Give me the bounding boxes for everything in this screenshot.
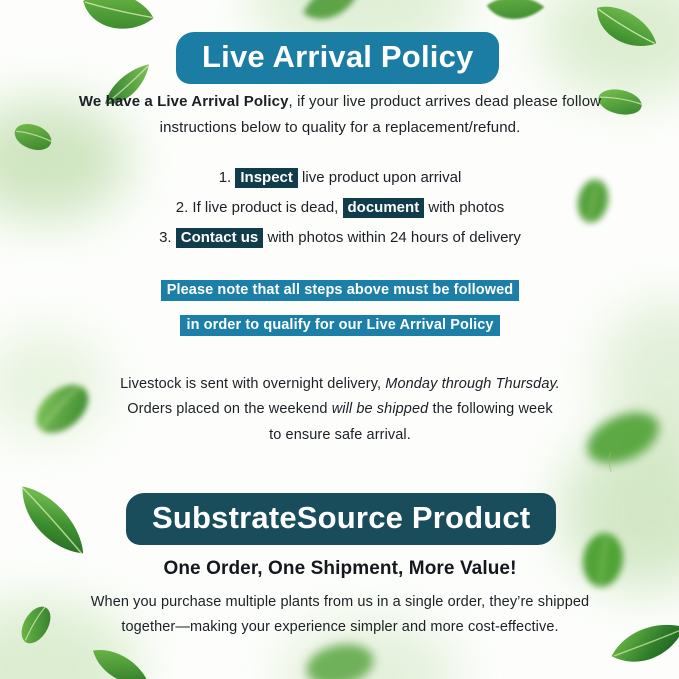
bundled-shipping-paragraph: When you purchase multiple plants from u… (70, 590, 610, 640)
policy-steps-list: 1. Inspect live product upon arrival 2. … (60, 163, 620, 253)
content-layer: Live Arrival Policy We have a Live Arriv… (0, 0, 679, 679)
step-number: 1. (219, 169, 232, 186)
list-item: 3. Contact us with photos within 24 hour… (60, 223, 620, 253)
step-number: 3. (159, 229, 172, 246)
step-after-text: with photos within 24 hours of delivery (263, 229, 521, 246)
value-subheadline: One Order, One Shipment, More Value! (70, 558, 610, 580)
step-highlight-inspect: Inspect (235, 168, 298, 188)
note-line-1: Please note that all steps above must be… (161, 280, 520, 301)
shipping-line2-b: the following week (428, 401, 552, 417)
bottom-body-line2: together—making your experience simpler … (121, 619, 558, 635)
live-arrival-policy-banner: Live Arrival Policy (176, 32, 499, 84)
step-number: 2. (176, 199, 189, 216)
step-highlight-contact-us: Contact us (176, 228, 264, 248)
infographic-page: Live Arrival Policy We have a Live Arriv… (0, 0, 679, 679)
step-after-text: live product upon arrival (298, 169, 461, 186)
shipping-line1-italic: Monday through Thursday. (385, 376, 560, 392)
shipping-line2-a: Orders placed on the weekend (127, 401, 331, 417)
note-line-1-wrapper: Please note that all steps above must be… (161, 274, 520, 305)
shipping-schedule-paragraph: Livestock is sent with overnight deliver… (80, 372, 600, 448)
intro-lead-text: We have a Live Arrival Policy (79, 93, 289, 110)
note-line-2: in order to qualify for our Live Arrival… (180, 315, 499, 336)
step-highlight-document: document (343, 198, 425, 218)
step-before-text: If live product is dead, (188, 199, 342, 216)
step-after-text: with photos (424, 199, 504, 216)
list-item: 2. If live product is dead, document wit… (60, 193, 620, 223)
policy-note-block: Please note that all steps above must be… (60, 274, 620, 340)
substratesource-product-banner: SubstrateSource Product (126, 493, 556, 545)
bottom-body-line1: When you purchase multiple plants from u… (91, 594, 589, 610)
note-line-2-wrapper: in order to qualify for our Live Arrival… (180, 309, 499, 340)
shipping-line1-a: Livestock is sent with overnight deliver… (120, 376, 385, 392)
shipping-line2-italic: will be shipped (332, 401, 429, 417)
intro-paragraph: We have a Live Arrival Policy, if your l… (60, 89, 620, 141)
shipping-line3: to ensure safe arrival. (269, 427, 411, 443)
list-item: 1. Inspect live product upon arrival (60, 163, 620, 193)
